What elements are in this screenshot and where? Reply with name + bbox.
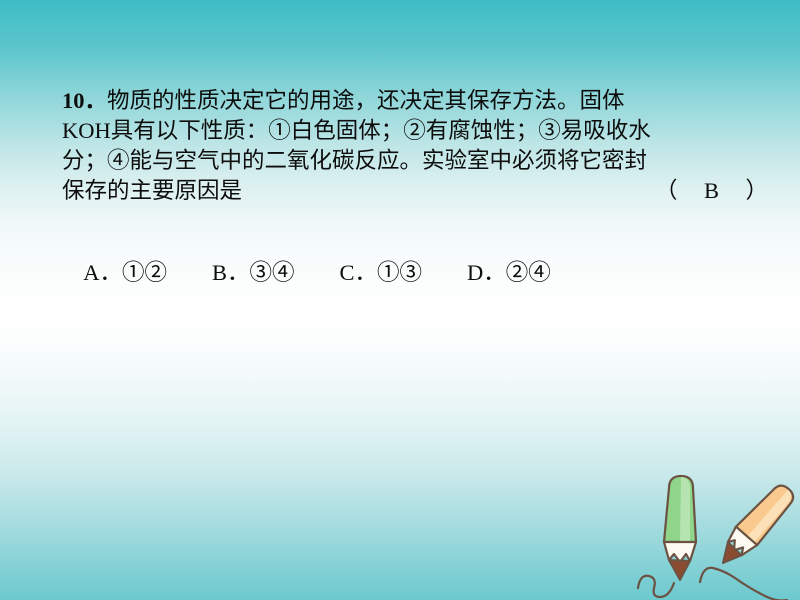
pencils-decoration <box>628 468 800 600</box>
answer-bracket: （ B ） <box>655 176 770 206</box>
orange-pencil-icon <box>712 479 798 572</box>
question-body: 10．物质的性质决定它的用途，还决定其保存方法。固体 KOH具有以下性质：①白色… <box>62 86 774 206</box>
question-line-3: 分；④能与空气中的二氧化碳反应。实验室中必须将它密封 <box>62 146 774 176</box>
question-line-2: KOH具有以下性质：①白色固体；②有腐蚀性；③易吸收水 <box>62 116 774 146</box>
green-pencil-icon <box>664 476 696 580</box>
options-row: A．①② B．③④ C．①③ D．②④ <box>62 228 551 318</box>
question-line-4: 保存的主要原因是（ B ） <box>62 176 774 206</box>
question-line-1-text: 物质的性质决定它的用途，还决定其保存方法。固体 <box>107 88 625 113</box>
question-line-2-text: KOH具有以下性质：①白色固体；②有腐蚀性；③易吸收水 <box>62 118 651 143</box>
slide-canvas: 10．物质的性质决定它的用途，还决定其保存方法。固体 KOH具有以下性质：①白色… <box>0 0 800 600</box>
question-line-1: 10．物质的性质决定它的用途，还决定其保存方法。固体 <box>62 86 774 116</box>
question-number: 10． <box>62 88 107 113</box>
scribble-left <box>638 576 674 597</box>
options-line: A．①② B．③④ C．①③ D．②④ <box>83 260 551 285</box>
question-line-4-text: 保存的主要原因是 <box>62 178 242 203</box>
question-line-3-text: 分；④能与空气中的二氧化碳反应。实验室中必须将它密封 <box>62 148 647 173</box>
scribble-right <box>700 568 787 600</box>
